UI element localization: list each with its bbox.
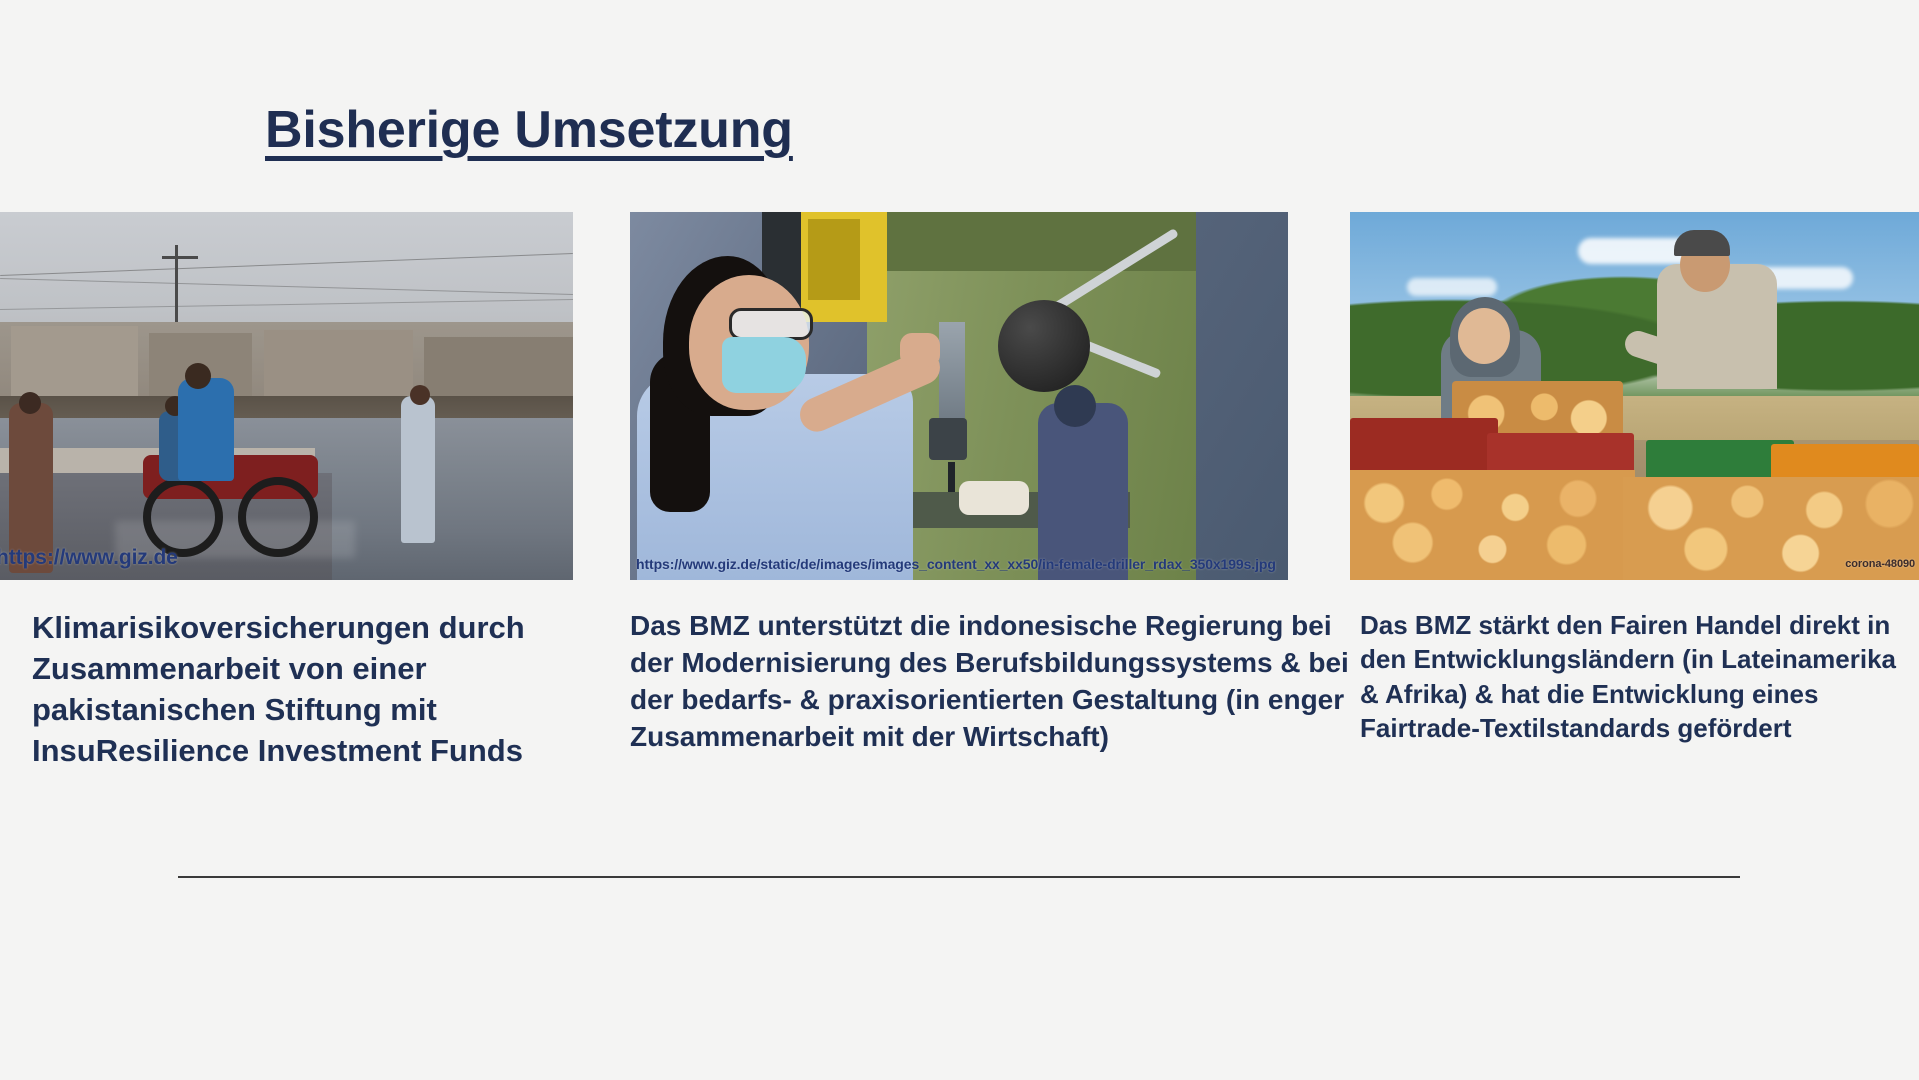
building bbox=[11, 326, 137, 400]
yellow-machine-inset bbox=[808, 219, 861, 300]
harvest-worker-cap bbox=[1674, 230, 1730, 256]
work-glove bbox=[959, 481, 1029, 515]
harvest-worker-head bbox=[1458, 308, 1510, 364]
image-watermark-url: corona-48090 bbox=[1845, 558, 1915, 570]
motorbike-rider-head bbox=[185, 363, 211, 389]
image-watermark-url: https://www.giz.de/static/de/images/imag… bbox=[636, 556, 1276, 572]
motorbike-rider-figure bbox=[178, 378, 234, 481]
photo-driller: https://www.giz.de/static/de/images/imag… bbox=[630, 212, 1288, 580]
drill-press-head bbox=[867, 212, 1196, 271]
drill-spindle bbox=[939, 322, 965, 425]
footer-divider bbox=[178, 876, 1740, 878]
photo-flood: https://www.giz.de bbox=[0, 212, 573, 580]
motorbike-wheel bbox=[238, 477, 318, 557]
background-worker-figure bbox=[1038, 403, 1128, 580]
caption-column-1: Klimarisikoversicherungen durch Zusammen… bbox=[32, 608, 632, 772]
face-mask-icon bbox=[722, 337, 806, 393]
photo-harvest: corona-48090 bbox=[1350, 212, 1919, 580]
photo-harvest-art: corona-48090 bbox=[1350, 212, 1919, 580]
building bbox=[424, 337, 573, 400]
drill-chuck bbox=[929, 418, 967, 460]
standing-boy-figure bbox=[401, 396, 435, 543]
image-watermark-url: https://www.giz.de bbox=[0, 546, 178, 570]
safety-goggles-icon bbox=[729, 308, 813, 340]
photo-driller-art: https://www.giz.de/static/de/images/imag… bbox=[630, 212, 1288, 580]
caption-column-2: Das BMZ unterstützt die indonesische Reg… bbox=[630, 608, 1370, 756]
page-title: Bisherige Umsetzung bbox=[265, 100, 793, 160]
motorbike-wheel bbox=[143, 477, 223, 557]
utility-pole-crossarm-icon bbox=[162, 256, 198, 259]
worker-hand bbox=[900, 333, 940, 367]
caption-column-3: Das BMZ stärkt den Fairen Handel direkt … bbox=[1360, 608, 1919, 745]
building bbox=[264, 330, 413, 400]
slide-canvas: Bisherige Umsetzung bbox=[0, 0, 1919, 1080]
photo-flood-art: https://www.giz.de bbox=[0, 212, 573, 580]
fruit-pile bbox=[1350, 470, 1635, 580]
